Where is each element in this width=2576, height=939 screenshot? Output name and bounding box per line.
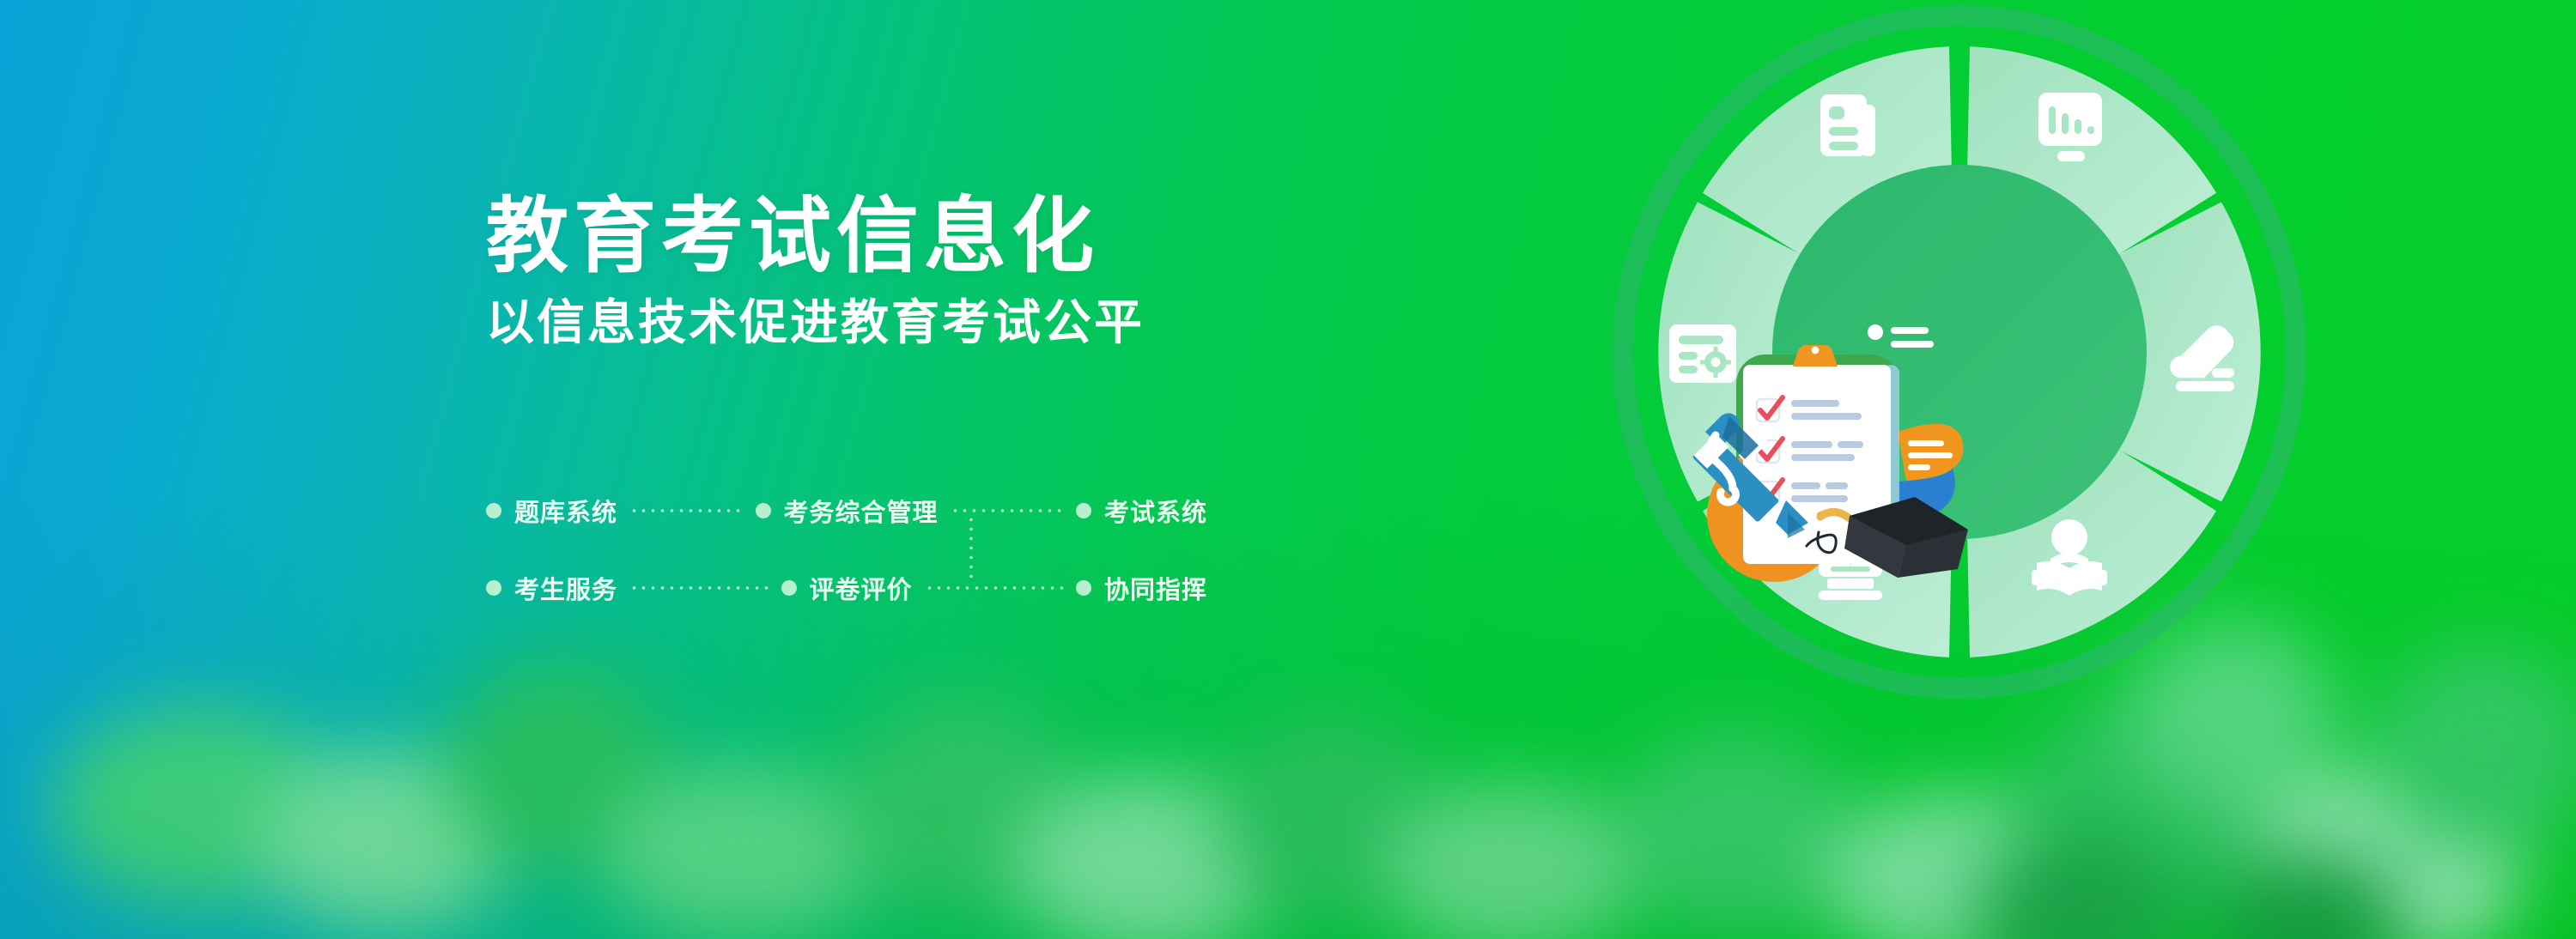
feature-item-xietong[interactable]: 协同指挥 [1076,570,1207,606]
bullet-dot-icon [486,580,501,596]
badge-line [1908,440,1944,446]
feature-item-kaowu[interactable]: 考务综合管理 [756,493,939,529]
headline-block: 教育考试信息化 以信息技术促进教育考试公平 [486,196,1345,347]
feature-label: 评卷评价 [810,570,913,606]
feature-row-2: 考生服务 评卷评价 协同指挥 [486,568,1207,608]
dotted-connector [951,509,1064,512]
text-line [1791,400,1839,407]
bullet-dot-icon [1076,580,1091,596]
text-line [1791,413,1862,420]
bullet-dot-icon [1076,503,1091,518]
badge-line [1908,452,1953,458]
feature-row-1: 题库系统 考务综合管理 考试系统 [486,491,1207,530]
clip-hole [1812,347,1820,354]
text-line [1838,441,1863,448]
bullet-dot-icon [756,503,771,518]
floating-bullet-line [1891,327,1929,334]
feature-label: 题库系统 [514,493,617,529]
feature-item-tiku[interactable]: 题库系统 [486,493,617,529]
text-line [1791,482,1820,489]
feature-label: 考试系统 [1104,493,1207,529]
floating-bullet-line [1891,341,1934,348]
feature-label: 协同指挥 [1104,570,1207,606]
page-title: 教育考试信息化 [486,196,1345,278]
text-line [1791,495,1848,502]
feature-label: 考务综合管理 [784,493,939,529]
feature-item-kaosheng[interactable]: 考生服务 [486,570,617,606]
dotted-connector [629,586,769,590]
text-line [1791,441,1832,448]
text-line [1791,454,1855,461]
clipboard-checklist-illustration [1681,305,1999,627]
text-line [1826,482,1848,489]
bullet-dot-icon [486,503,501,518]
dotted-connector [925,586,1064,590]
feature-item-kaoshi[interactable]: 考试系统 [1076,493,1207,529]
page-subtitle: 以信息技术促进教育考试公平 [486,299,1345,347]
feature-item-pingjuan[interactable]: 评卷评价 [781,570,913,606]
feature-label: 考生服务 [514,570,617,606]
badge-line [1908,464,1930,470]
floating-bullet-dot [1868,324,1883,340]
feature-list: 题库系统 考务综合管理 考试系统 考生服务 评卷评价 [486,491,1207,608]
dotted-connector [629,509,743,512]
hero-banner: 教育考试信息化 以信息技术促进教育考试公平 题库系统 考务综合管理 考试系统 [0,0,2576,939]
bullet-dot-icon [781,580,797,596]
